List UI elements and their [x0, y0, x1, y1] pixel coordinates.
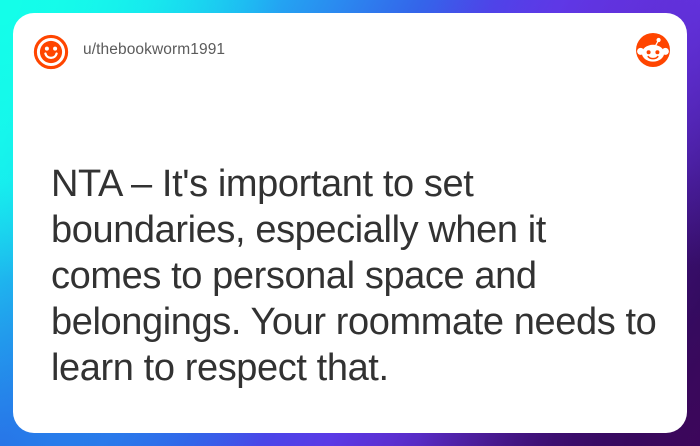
card-header: u/thebookworm1991: [13, 13, 687, 105]
post-body-text: NTA – It's important to set boundaries, …: [51, 161, 663, 391]
smiley-face-avatar-icon[interactable]: [32, 33, 70, 71]
reddit-comment-card: u/thebookworm1991: [13, 13, 687, 433]
reddit-snoo-logo-icon: [636, 33, 670, 67]
username-label: u/thebookworm1991: [83, 41, 225, 59]
gradient-background: u/thebookworm1991: [0, 0, 700, 446]
